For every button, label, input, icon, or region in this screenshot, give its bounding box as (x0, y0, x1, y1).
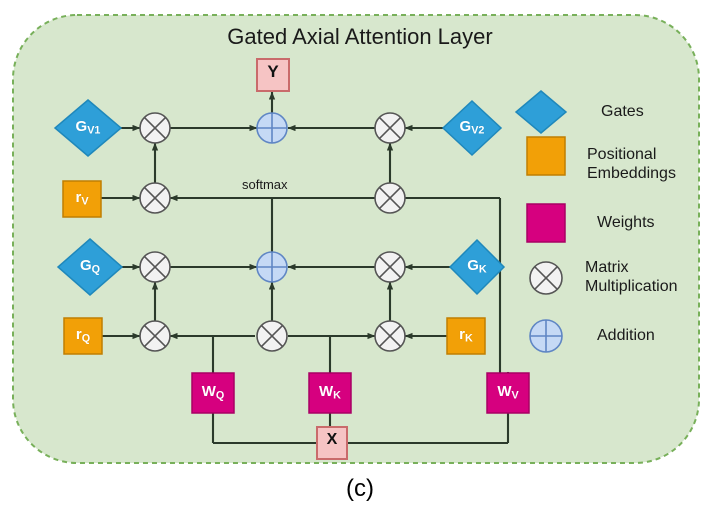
legend-label-addition: Addition (597, 326, 655, 345)
legend-label-positional: Positional Embeddings (587, 145, 676, 183)
legend-label-matmul: Matrix Multiplication (585, 258, 677, 296)
legend-swatch-positional (527, 137, 565, 175)
gate-gv2-label: GV2 (443, 118, 501, 137)
legend-swatch-addition (530, 320, 562, 352)
matmul-node (140, 113, 170, 143)
matmul-node (375, 321, 405, 351)
figure-canvas: Gated Axial Attention Layer Y X GV1 GV2 … (0, 0, 720, 512)
output-block-y-label: Y (257, 62, 289, 82)
figure-caption: (c) (0, 475, 720, 503)
addition-node (257, 113, 287, 143)
legend-label-matmul-line2: Multiplication (585, 278, 677, 295)
matmul-node (140, 183, 170, 213)
gate-gk-label: GK (450, 257, 504, 276)
legend-label-positional-line2: Embeddings (587, 165, 676, 182)
matmul-node (257, 321, 287, 351)
addition-node (257, 252, 287, 282)
weight-wv-label: WV (487, 383, 529, 402)
legend-label-gates: Gates (601, 102, 644, 121)
input-block-x-label: X (317, 431, 347, 449)
matmul-node (140, 252, 170, 282)
matmul-node (140, 321, 170, 351)
positional-rv-label: rV (63, 189, 101, 208)
positional-rk-label: rK (447, 326, 485, 345)
legend-swatch-weights (527, 204, 565, 242)
page-title: Gated Axial Attention Layer (0, 24, 720, 50)
matmul-node (375, 252, 405, 282)
legend-swatch-matmul (530, 262, 562, 294)
gate-gv1-label: GV1 (55, 118, 121, 137)
legend-label-positional-line1: Positional (587, 146, 656, 163)
gate-gq-label: GQ (58, 257, 122, 276)
diagram-svg (0, 0, 720, 512)
matmul-node (375, 183, 405, 213)
weight-wq-label: WQ (192, 383, 234, 402)
matmul-node (375, 113, 405, 143)
softmax-annotation: softmax (242, 177, 288, 192)
panel-background (13, 15, 699, 463)
legend-label-matmul-line1: Matrix (585, 259, 629, 276)
positional-rq-label: rQ (64, 326, 102, 345)
legend-label-weights: Weights (597, 213, 655, 232)
weight-wk-label: WK (309, 383, 351, 402)
